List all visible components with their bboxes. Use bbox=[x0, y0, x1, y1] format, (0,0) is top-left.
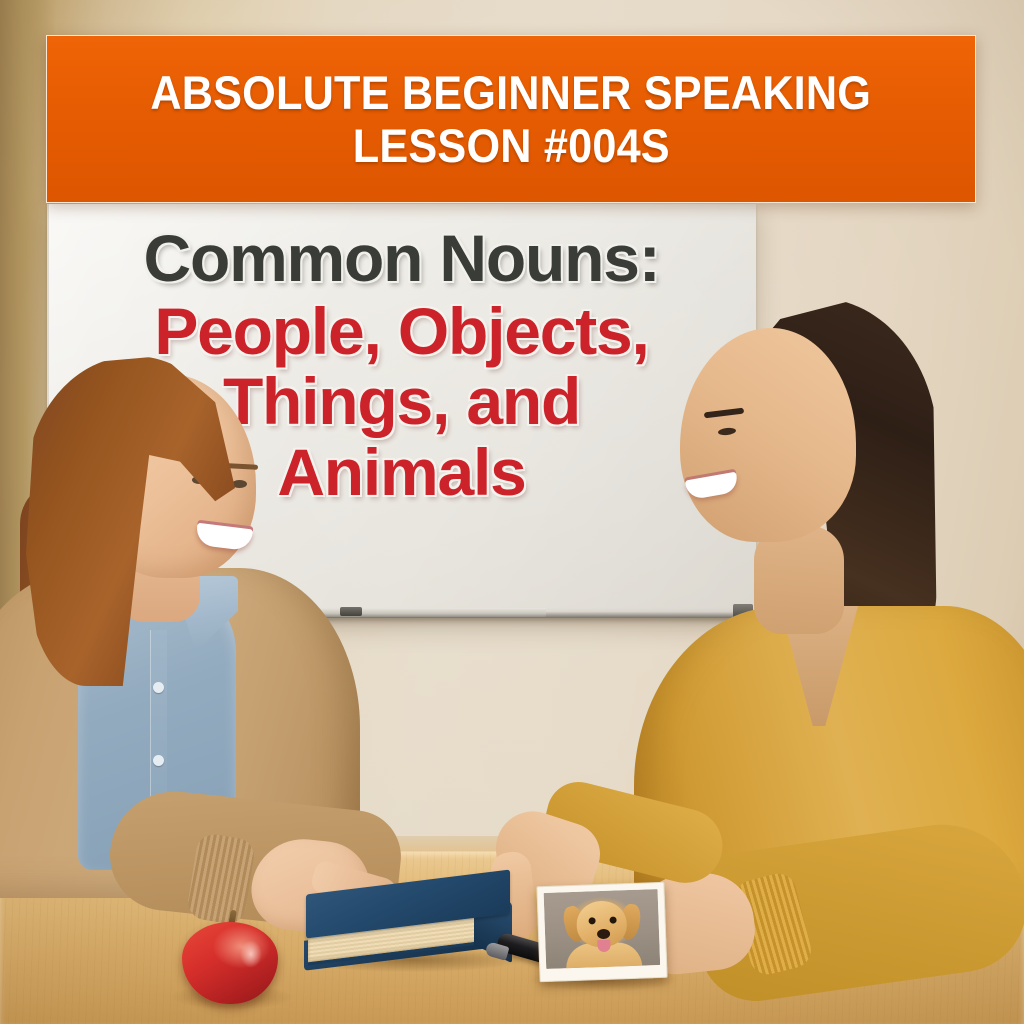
left-woman bbox=[0, 330, 380, 890]
lesson-thumbnail: Common Nouns: People, Objects, Things, a… bbox=[0, 0, 1024, 1024]
right-woman-neck bbox=[754, 526, 844, 634]
banner-line-2: LESSON #004S bbox=[352, 119, 669, 172]
lesson-banner: ABSOLUTE BEGINNER SPEAKING LESSON #004S bbox=[46, 35, 976, 203]
apple-object bbox=[182, 908, 278, 1004]
photo-image-dog bbox=[544, 889, 661, 969]
banner-line-1: ABSOLUTE BEGINNER SPEAKING bbox=[151, 66, 872, 119]
left-woman-shirt-button-1 bbox=[153, 682, 164, 693]
apple-body bbox=[182, 922, 278, 1004]
right-woman bbox=[614, 276, 1024, 896]
dog-photo-object bbox=[536, 882, 667, 982]
apple-highlight bbox=[240, 940, 262, 968]
left-woman-shirt-button-2 bbox=[153, 755, 164, 766]
right-woman-face bbox=[680, 328, 856, 542]
